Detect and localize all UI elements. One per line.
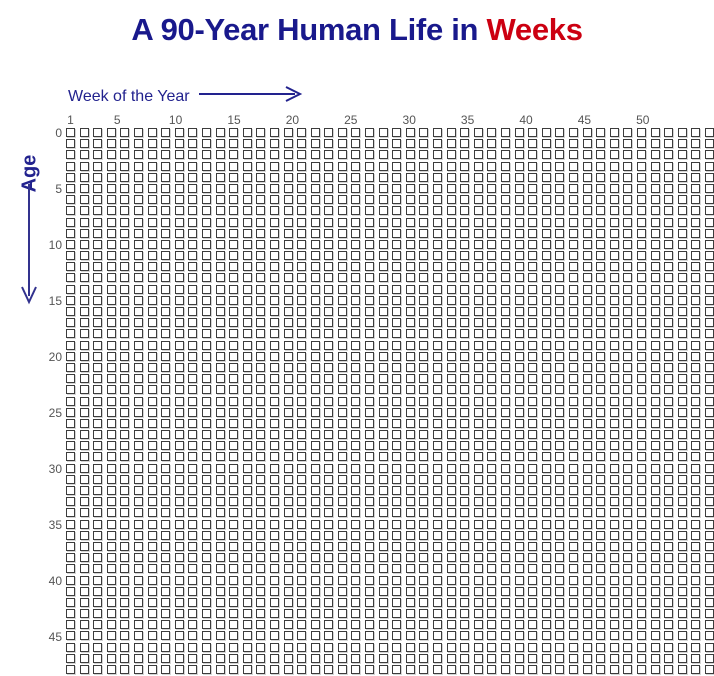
week-cell[interactable]: [664, 508, 673, 517]
week-cell[interactable]: [284, 587, 293, 596]
week-cell[interactable]: [365, 419, 374, 428]
week-cell[interactable]: [202, 542, 211, 551]
week-cell[interactable]: [610, 475, 619, 484]
week-cell[interactable]: [134, 307, 143, 316]
week-cell[interactable]: [284, 385, 293, 394]
week-cell[interactable]: [460, 587, 469, 596]
week-cell[interactable]: [596, 497, 605, 506]
week-cell[interactable]: [474, 475, 483, 484]
week-cell[interactable]: [229, 587, 238, 596]
week-cell[interactable]: [66, 553, 75, 562]
week-cell[interactable]: [175, 139, 184, 148]
week-cell[interactable]: [175, 352, 184, 361]
week-cell[interactable]: [460, 576, 469, 585]
week-cell[interactable]: [148, 464, 157, 473]
week-cell[interactable]: [311, 262, 320, 271]
week-cell[interactable]: [569, 620, 578, 629]
week-cell[interactable]: [229, 430, 238, 439]
week-cell[interactable]: [678, 273, 687, 282]
week-cell[interactable]: [120, 128, 129, 137]
week-cell[interactable]: [705, 553, 714, 562]
week-cell[interactable]: [120, 397, 129, 406]
week-cell[interactable]: [406, 452, 415, 461]
week-cell[interactable]: [229, 452, 238, 461]
week-cell[interactable]: [678, 218, 687, 227]
week-cell[interactable]: [297, 251, 306, 260]
week-cell[interactable]: [324, 262, 333, 271]
week-cell[interactable]: [379, 553, 388, 562]
week-cell[interactable]: [651, 452, 660, 461]
week-cell[interactable]: [120, 452, 129, 461]
week-cell[interactable]: [379, 497, 388, 506]
week-cell[interactable]: [66, 318, 75, 327]
week-cell[interactable]: [351, 251, 360, 260]
week-cell[interactable]: [175, 150, 184, 159]
week-cell[interactable]: [705, 240, 714, 249]
week-cell[interactable]: [134, 341, 143, 350]
week-cell[interactable]: [134, 576, 143, 585]
week-cell[interactable]: [664, 206, 673, 215]
week-cell[interactable]: [216, 486, 225, 495]
week-cell[interactable]: [120, 285, 129, 294]
week-cell[interactable]: [175, 464, 184, 473]
week-cell[interactable]: [243, 218, 252, 227]
week-cell[interactable]: [501, 553, 510, 562]
week-cell[interactable]: [610, 441, 619, 450]
week-cell[interactable]: [637, 587, 646, 596]
week-cell[interactable]: [365, 452, 374, 461]
week-cell[interactable]: [651, 475, 660, 484]
week-cell[interactable]: [202, 352, 211, 361]
week-cell[interactable]: [175, 341, 184, 350]
week-cell[interactable]: [297, 464, 306, 473]
week-cell[interactable]: [379, 486, 388, 495]
week-cell[interactable]: [229, 564, 238, 573]
week-cell[interactable]: [406, 609, 415, 618]
week-cell[interactable]: [528, 374, 537, 383]
week-cell[interactable]: [569, 520, 578, 529]
week-cell[interactable]: [148, 162, 157, 171]
week-cell[interactable]: [664, 576, 673, 585]
week-cell[interactable]: [664, 631, 673, 640]
week-cell[interactable]: [569, 139, 578, 148]
week-cell[interactable]: [93, 397, 102, 406]
week-cell[interactable]: [623, 475, 632, 484]
week-cell[interactable]: [392, 273, 401, 282]
week-cell[interactable]: [188, 587, 197, 596]
week-cell[interactable]: [515, 609, 524, 618]
week-cell[interactable]: [487, 128, 496, 137]
week-cell[interactable]: [107, 620, 116, 629]
week-cell[interactable]: [651, 206, 660, 215]
week-cell[interactable]: [256, 173, 265, 182]
week-cell[interactable]: [474, 486, 483, 495]
week-cell[interactable]: [93, 553, 102, 562]
week-cell[interactable]: [311, 441, 320, 450]
week-cell[interactable]: [256, 150, 265, 159]
week-cell[interactable]: [351, 576, 360, 585]
week-cell[interactable]: [297, 206, 306, 215]
week-cell[interactable]: [338, 542, 347, 551]
week-cell[interactable]: [705, 598, 714, 607]
week-cell[interactable]: [447, 531, 456, 540]
week-cell[interactable]: [270, 184, 279, 193]
week-cell[interactable]: [419, 218, 428, 227]
week-cell[interactable]: [107, 609, 116, 618]
week-cell[interactable]: [120, 352, 129, 361]
week-cell[interactable]: [637, 520, 646, 529]
week-cell[interactable]: [542, 631, 551, 640]
week-cell[interactable]: [474, 598, 483, 607]
week-cell[interactable]: [583, 631, 592, 640]
week-cell[interactable]: [351, 128, 360, 137]
week-cell[interactable]: [637, 329, 646, 338]
week-cell[interactable]: [284, 206, 293, 215]
week-cell[interactable]: [256, 329, 265, 338]
week-cell[interactable]: [379, 397, 388, 406]
week-cell[interactable]: [93, 620, 102, 629]
week-cell[interactable]: [528, 654, 537, 663]
week-cell[interactable]: [392, 564, 401, 573]
week-cell[interactable]: [678, 229, 687, 238]
week-cell[interactable]: [134, 643, 143, 652]
week-cell[interactable]: [284, 296, 293, 305]
week-cell[interactable]: [610, 150, 619, 159]
week-cell[interactable]: [120, 620, 129, 629]
week-cell[interactable]: [419, 240, 428, 249]
week-cell[interactable]: [107, 240, 116, 249]
week-cell[interactable]: [66, 307, 75, 316]
week-cell[interactable]: [243, 564, 252, 573]
week-cell[interactable]: [406, 654, 415, 663]
week-cell[interactable]: [311, 318, 320, 327]
week-cell[interactable]: [501, 128, 510, 137]
week-cell[interactable]: [175, 173, 184, 182]
week-cell[interactable]: [351, 508, 360, 517]
week-cell[interactable]: [392, 363, 401, 372]
week-cell[interactable]: [256, 251, 265, 260]
week-cell[interactable]: [447, 598, 456, 607]
week-cell[interactable]: [419, 273, 428, 282]
week-cell[interactable]: [311, 408, 320, 417]
week-cell[interactable]: [216, 329, 225, 338]
week-cell[interactable]: [229, 464, 238, 473]
week-cell[interactable]: [664, 341, 673, 350]
week-cell[interactable]: [460, 318, 469, 327]
week-cell[interactable]: [365, 229, 374, 238]
week-cell[interactable]: [324, 542, 333, 551]
week-cell[interactable]: [379, 251, 388, 260]
week-cell[interactable]: [596, 643, 605, 652]
week-cell[interactable]: [311, 251, 320, 260]
week-cell[interactable]: [351, 218, 360, 227]
week-cell[interactable]: [216, 587, 225, 596]
week-cell[interactable]: [297, 497, 306, 506]
week-cell[interactable]: [487, 609, 496, 618]
week-cell[interactable]: [623, 184, 632, 193]
week-cell[interactable]: [338, 452, 347, 461]
week-cell[interactable]: [569, 273, 578, 282]
week-cell[interactable]: [311, 296, 320, 305]
week-cell[interactable]: [351, 184, 360, 193]
week-cell[interactable]: [93, 150, 102, 159]
week-cell[interactable]: [678, 341, 687, 350]
week-cell[interactable]: [705, 654, 714, 663]
week-cell[interactable]: [311, 452, 320, 461]
week-cell[interactable]: [678, 318, 687, 327]
week-cell[interactable]: [623, 542, 632, 551]
week-cell[interactable]: [474, 520, 483, 529]
week-cell[interactable]: [66, 508, 75, 517]
week-cell[interactable]: [651, 150, 660, 159]
week-cell[interactable]: [188, 553, 197, 562]
week-cell[interactable]: [351, 587, 360, 596]
week-cell[interactable]: [120, 307, 129, 316]
week-cell[interactable]: [515, 329, 524, 338]
week-cell[interactable]: [678, 408, 687, 417]
week-cell[interactable]: [637, 643, 646, 652]
week-cell[interactable]: [596, 206, 605, 215]
week-cell[interactable]: [691, 419, 700, 428]
week-cell[interactable]: [447, 273, 456, 282]
week-cell[interactable]: [460, 162, 469, 171]
week-cell[interactable]: [66, 520, 75, 529]
week-cell[interactable]: [419, 643, 428, 652]
week-cell[interactable]: [555, 598, 564, 607]
week-cell[interactable]: [406, 184, 415, 193]
week-cell[interactable]: [419, 609, 428, 618]
week-cell[interactable]: [107, 374, 116, 383]
week-cell[interactable]: [555, 195, 564, 204]
week-cell[interactable]: [324, 273, 333, 282]
week-cell[interactable]: [637, 173, 646, 182]
week-cell[interactable]: [392, 441, 401, 450]
week-cell[interactable]: [202, 206, 211, 215]
week-cell[interactable]: [256, 397, 265, 406]
week-cell[interactable]: [433, 609, 442, 618]
week-cell[interactable]: [474, 285, 483, 294]
week-cell[interactable]: [107, 643, 116, 652]
week-cell[interactable]: [433, 598, 442, 607]
week-cell[interactable]: [134, 128, 143, 137]
week-cell[interactable]: [297, 486, 306, 495]
week-cell[interactable]: [120, 184, 129, 193]
week-cell[interactable]: [148, 609, 157, 618]
week-cell[interactable]: [107, 441, 116, 450]
week-cell[interactable]: [596, 128, 605, 137]
week-cell[interactable]: [392, 475, 401, 484]
week-cell[interactable]: [583, 419, 592, 428]
week-cell[interactable]: [542, 464, 551, 473]
week-cell[interactable]: [515, 128, 524, 137]
week-cell[interactable]: [297, 374, 306, 383]
week-cell[interactable]: [379, 564, 388, 573]
week-cell[interactable]: [501, 363, 510, 372]
week-cell[interactable]: [678, 631, 687, 640]
week-cell[interactable]: [311, 184, 320, 193]
week-cell[interactable]: [365, 329, 374, 338]
week-cell[interactable]: [148, 475, 157, 484]
week-cell[interactable]: [66, 654, 75, 663]
week-cell[interactable]: [678, 464, 687, 473]
week-cell[interactable]: [216, 318, 225, 327]
week-cell[interactable]: [216, 397, 225, 406]
week-cell[interactable]: [216, 508, 225, 517]
week-cell[interactable]: [406, 318, 415, 327]
week-cell[interactable]: [664, 520, 673, 529]
week-cell[interactable]: [270, 553, 279, 562]
week-cell[interactable]: [419, 363, 428, 372]
week-cell[interactable]: [297, 273, 306, 282]
week-cell[interactable]: [216, 307, 225, 316]
week-cell[interactable]: [351, 564, 360, 573]
week-cell[interactable]: [664, 643, 673, 652]
week-cell[interactable]: [433, 564, 442, 573]
week-cell[interactable]: [651, 363, 660, 372]
week-cell[interactable]: [311, 363, 320, 372]
week-cell[interactable]: [515, 486, 524, 495]
week-cell[interactable]: [651, 329, 660, 338]
week-cell[interactable]: [229, 150, 238, 159]
week-cell[interactable]: [651, 139, 660, 148]
week-cell[interactable]: [324, 184, 333, 193]
week-cell[interactable]: [583, 654, 592, 663]
week-cell[interactable]: [651, 464, 660, 473]
week-cell[interactable]: [474, 408, 483, 417]
week-cell[interactable]: [623, 251, 632, 260]
week-cell[interactable]: [487, 553, 496, 562]
week-cell[interactable]: [447, 251, 456, 260]
week-cell[interactable]: [474, 542, 483, 551]
week-cell[interactable]: [148, 397, 157, 406]
week-cell[interactable]: [610, 430, 619, 439]
week-cell[interactable]: [379, 643, 388, 652]
week-cell[interactable]: [623, 318, 632, 327]
week-cell[interactable]: [610, 587, 619, 596]
week-cell[interactable]: [66, 352, 75, 361]
week-cell[interactable]: [447, 464, 456, 473]
week-cell[interactable]: [202, 520, 211, 529]
week-cell[interactable]: [243, 262, 252, 271]
week-cell[interactable]: [229, 598, 238, 607]
week-cell[interactable]: [569, 419, 578, 428]
week-cell[interactable]: [148, 318, 157, 327]
week-cell[interactable]: [433, 128, 442, 137]
week-cell[interactable]: [175, 206, 184, 215]
week-cell[interactable]: [515, 307, 524, 316]
week-cell[interactable]: [80, 184, 89, 193]
week-cell[interactable]: [419, 162, 428, 171]
week-cell[interactable]: [474, 620, 483, 629]
week-cell[interactable]: [691, 385, 700, 394]
week-cell[interactable]: [406, 553, 415, 562]
week-cell[interactable]: [392, 240, 401, 249]
week-cell[interactable]: [80, 452, 89, 461]
week-cell[interactable]: [243, 206, 252, 215]
week-cell[interactable]: [610, 128, 619, 137]
week-cell[interactable]: [623, 150, 632, 159]
week-cell[interactable]: [256, 285, 265, 294]
week-cell[interactable]: [351, 318, 360, 327]
week-cell[interactable]: [678, 385, 687, 394]
week-cell[interactable]: [501, 542, 510, 551]
week-cell[interactable]: [161, 531, 170, 540]
week-cell[interactable]: [487, 520, 496, 529]
week-cell[interactable]: [542, 273, 551, 282]
week-cell[interactable]: [338, 173, 347, 182]
week-cell[interactable]: [555, 576, 564, 585]
week-cell[interactable]: [583, 162, 592, 171]
week-cell[interactable]: [311, 419, 320, 428]
week-cell[interactable]: [311, 229, 320, 238]
week-cell[interactable]: [528, 497, 537, 506]
week-cell[interactable]: [487, 475, 496, 484]
week-cell[interactable]: [338, 475, 347, 484]
week-cell[interactable]: [216, 598, 225, 607]
week-cell[interactable]: [202, 419, 211, 428]
week-cell[interactable]: [419, 184, 428, 193]
week-cell[interactable]: [447, 654, 456, 663]
week-cell[interactable]: [120, 576, 129, 585]
week-cell[interactable]: [542, 352, 551, 361]
week-cell[interactable]: [487, 229, 496, 238]
week-cell[interactable]: [583, 195, 592, 204]
week-cell[interactable]: [120, 229, 129, 238]
week-cell[interactable]: [256, 542, 265, 551]
week-cell[interactable]: [515, 576, 524, 585]
week-cell[interactable]: [161, 654, 170, 663]
week-cell[interactable]: [555, 430, 564, 439]
week-cell[interactable]: [379, 307, 388, 316]
week-cell[interactable]: [705, 262, 714, 271]
week-cell[interactable]: [66, 430, 75, 439]
week-cell[interactable]: [188, 441, 197, 450]
week-cell[interactable]: [447, 553, 456, 562]
week-cell[interactable]: [188, 643, 197, 652]
week-cell[interactable]: [583, 206, 592, 215]
week-cell[interactable]: [596, 397, 605, 406]
week-cell[interactable]: [120, 139, 129, 148]
week-cell[interactable]: [528, 229, 537, 238]
week-cell[interactable]: [447, 430, 456, 439]
week-cell[interactable]: [705, 139, 714, 148]
week-cell[interactable]: [270, 441, 279, 450]
week-cell[interactable]: [324, 643, 333, 652]
week-cell[interactable]: [596, 598, 605, 607]
week-cell[interactable]: [610, 520, 619, 529]
week-cell[interactable]: [419, 654, 428, 663]
week-cell[interactable]: [515, 184, 524, 193]
week-cell[interactable]: [66, 620, 75, 629]
week-cell[interactable]: [202, 307, 211, 316]
week-cell[interactable]: [175, 486, 184, 495]
week-cell[interactable]: [406, 352, 415, 361]
week-cell[interactable]: [80, 195, 89, 204]
week-cell[interactable]: [610, 654, 619, 663]
week-cell[interactable]: [80, 307, 89, 316]
week-cell[interactable]: [202, 486, 211, 495]
week-cell[interactable]: [664, 441, 673, 450]
week-cell[interactable]: [175, 385, 184, 394]
week-cell[interactable]: [311, 139, 320, 148]
week-cell[interactable]: [447, 229, 456, 238]
week-cell[interactable]: [651, 598, 660, 607]
week-cell[interactable]: [338, 363, 347, 372]
week-cell[interactable]: [501, 374, 510, 383]
week-cell[interactable]: [705, 497, 714, 506]
week-cell[interactable]: [365, 497, 374, 506]
week-cell[interactable]: [134, 609, 143, 618]
